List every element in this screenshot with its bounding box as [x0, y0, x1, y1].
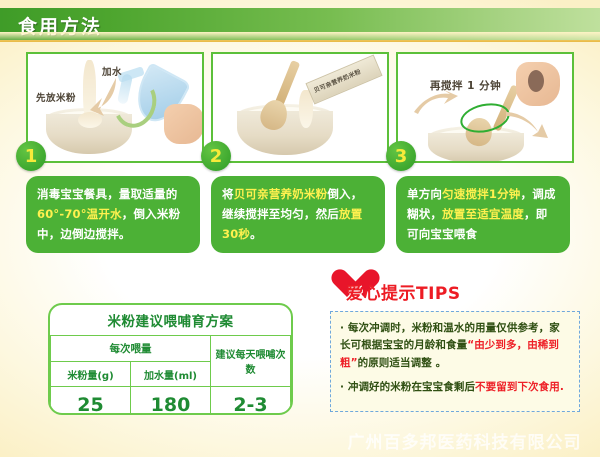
- step-2-illustration: 贝可亲营养奶米粉: [211, 52, 389, 163]
- feeding-table: 米粉建议喂哺育方案 每次喂量 建议每天喂哺次数 米粉量(g) 加水量(ml) 2…: [48, 303, 293, 415]
- step-1-caption-part-1: 消毒宝宝餐具，量取适量的: [37, 187, 177, 201]
- step-3: 再搅拌 1 分钟 3 单方向匀速搅拌1分钟，调成糊状，放置至适宜温度，即可向宝宝…: [396, 52, 574, 163]
- tips-item-2: · 冲调好的米粉在宝宝食剩后不要留到下次食用.: [340, 379, 570, 396]
- tips-item-2-red: 不要留到下次食用.: [475, 381, 564, 393]
- tips-header: 爱心提示TIPS: [330, 268, 530, 302]
- tips-item-1: · 每次冲调时，米粉和温水的用量仅供参考，家长可根据宝宝的月龄和食量“由少到多，…: [340, 320, 570, 372]
- table-value-rice: 25: [51, 387, 131, 416]
- step-2-caption: 将贝可亲营养奶米粉倒入，继续搅拌至均匀，然后放置30秒。: [211, 176, 385, 253]
- table-row: 25 180 2-3: [51, 387, 291, 416]
- step-3-label-top: 再搅拌 1 分钟: [430, 78, 501, 93]
- step-1-caption-highlight-1: 60°-70°温开水: [37, 207, 122, 221]
- company-watermark: 广州百多邦医药科技有限公司: [332, 428, 597, 453]
- tips-item-1-part-2: 的原则适当调整 。: [358, 357, 447, 369]
- tips-item-2-part-1: · 冲调好的米粉在宝宝食剩后: [340, 381, 475, 393]
- step-1-illustration: 先放米粉 加水: [26, 52, 204, 163]
- step-2-caption-part-1: 将: [222, 187, 234, 201]
- page-root: 食用方法: [0, 0, 600, 457]
- table-col-header-1: 加水量(ml): [131, 362, 211, 387]
- step-1-label-top: 加水: [102, 64, 122, 78]
- table-row: 每次喂量 建议每天喂哺次数: [51, 336, 291, 362]
- hand-icon: [164, 104, 204, 144]
- step-1-label-left: 先放米粉: [36, 90, 76, 104]
- table-value-times: 2-3: [211, 387, 291, 416]
- step-3-illustration: 再搅拌 1 分钟: [396, 52, 574, 163]
- step-2-number: 2: [201, 141, 231, 171]
- feeding-table-grid: 米粉建议喂哺育方案 每次喂量 建议每天喂哺次数 米粉量(g) 加水量(ml) 2…: [50, 305, 291, 415]
- stir-arrow-left-icon: [414, 90, 458, 116]
- step-3-caption-part-1: 单方向: [407, 187, 442, 201]
- spoon-handle-icon: [275, 60, 301, 106]
- tips-title: 爱心提示TIPS: [346, 279, 461, 304]
- step-2-caption-part-3: 。: [250, 227, 262, 241]
- tips-box: · 每次冲调时，米粉和温水的用量仅供参考，家长可根据宝宝的月龄和食量“由少到多，…: [330, 311, 580, 412]
- step-3-caption-highlight-1: 匀速搅拌1分钟: [442, 187, 520, 201]
- step-3-caption: 单方向匀速搅拌1分钟，调成糊状，放置至适宜温度，即可向宝宝喂食: [396, 176, 570, 253]
- table-row: 米粉建议喂哺育方案: [51, 305, 291, 336]
- table-col-header-0: 米粉量(g): [51, 362, 131, 387]
- table-group-header: 每次喂量: [51, 336, 211, 362]
- step-3-caption-highlight-2: 放置至适宜温度: [442, 207, 524, 221]
- step-1-number: 1: [16, 141, 46, 171]
- thumb-icon: [528, 70, 544, 92]
- step-2-caption-highlight-1: 贝可亲营养奶米粉: [234, 187, 328, 201]
- step-1-caption: 消毒宝宝餐具，量取适量的60°-70°温开水，倒入米粉中，边倒边搅拌。: [26, 176, 200, 253]
- table-value-water: 180: [131, 387, 211, 416]
- step-2: 贝可亲营养奶米粉 2 将贝可亲营养奶米粉倒入，继续搅拌至均匀，然后放置30秒。: [211, 52, 389, 163]
- steps-section: 先放米粉 加水 1 消毒宝宝餐具，量取适量的60°-70°温开水，倒入米粉中，边…: [0, 52, 600, 252]
- step-3-number: 3: [386, 141, 416, 171]
- header-glow: [0, 32, 600, 42]
- table-title: 米粉建议喂哺育方案: [51, 305, 291, 336]
- stir-arrow-right-icon: [506, 110, 550, 138]
- step-1: 先放米粉 加水 1 消毒宝宝餐具，量取适量的60°-70°温开水，倒入米粉中，边…: [26, 52, 204, 163]
- table-right-header: 建议每天喂哺次数: [211, 336, 291, 387]
